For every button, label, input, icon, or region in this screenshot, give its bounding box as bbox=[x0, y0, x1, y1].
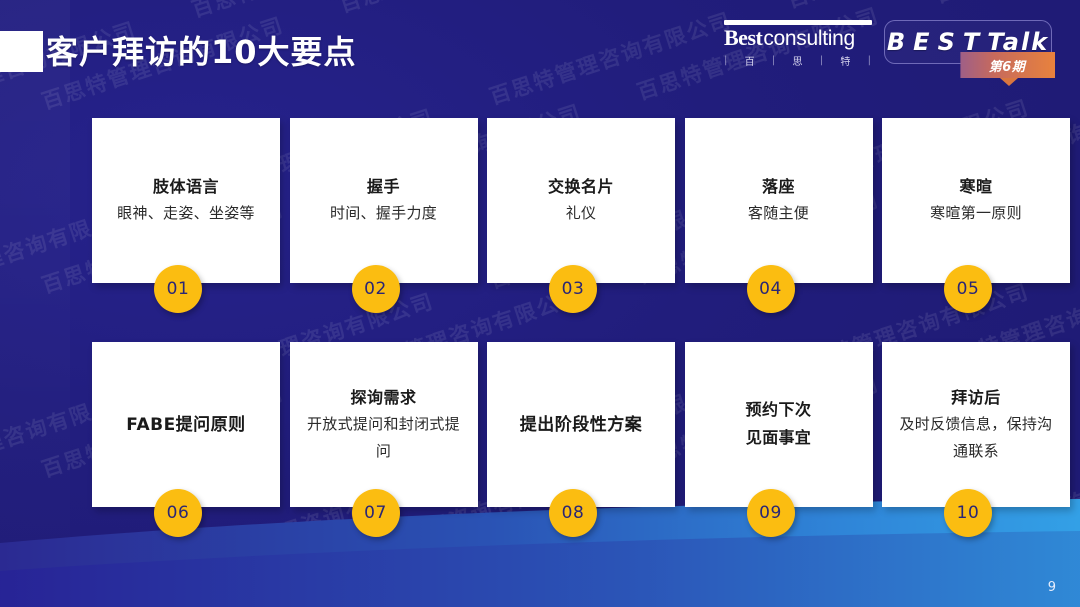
point-card[interactable]: FABE提问原则 bbox=[92, 342, 280, 507]
point-card-title: 交换名片 bbox=[548, 174, 614, 200]
point-card-subtitle: 开放式提问和封闭式提问 bbox=[302, 411, 466, 465]
point-number-badge[interactable]: 09 bbox=[747, 489, 795, 537]
point-card-subtitle: 眼神、走姿、坐姿等 bbox=[117, 200, 255, 227]
point-card-subtitle: 见面事宜 bbox=[746, 423, 811, 453]
point-card-title: 寒暄 bbox=[959, 174, 992, 200]
point-number-badge[interactable]: 07 bbox=[352, 489, 400, 537]
point-card-title: 探询需求 bbox=[350, 385, 416, 411]
point-card[interactable]: 握手时间、握手力度 bbox=[290, 118, 478, 283]
point-card[interactable]: 拜访后及时反馈信息，保持沟通联系 bbox=[882, 342, 1070, 507]
point-number-badge[interactable]: 04 bbox=[747, 265, 795, 313]
point-card[interactable]: 落座客随主便 bbox=[685, 118, 873, 283]
point-number-badge[interactable]: 06 bbox=[154, 489, 202, 537]
point-card[interactable]: 预约下次见面事宜 bbox=[685, 342, 873, 507]
card-grid: 肢体语言眼神、走姿、坐姿等01握手时间、握手力度02交换名片礼仪03落座客随主便… bbox=[0, 0, 1080, 607]
point-card-title: FABE提问原则 bbox=[126, 412, 245, 438]
slide-canvas: 百思特管理咨询有限公司百思特管理咨询有限公司百思特管理咨询有限公司百思特管理咨询… bbox=[0, 0, 1080, 607]
page-number: 9 bbox=[1048, 580, 1056, 595]
point-card-subtitle: 客随主便 bbox=[748, 200, 809, 227]
point-card-title: 拜访后 bbox=[951, 385, 1001, 411]
point-card-title: 预约下次 bbox=[745, 397, 811, 423]
point-number-badge[interactable]: 10 bbox=[944, 489, 992, 537]
point-number-badge[interactable]: 08 bbox=[549, 489, 597, 537]
point-card-subtitle: 寒暄第一原则 bbox=[930, 200, 1022, 227]
point-card-title: 落座 bbox=[762, 174, 795, 200]
point-card[interactable]: 提出阶段性方案 bbox=[487, 342, 675, 507]
point-card-title: 肢体语言 bbox=[153, 174, 219, 200]
point-card-title: 握手 bbox=[367, 174, 400, 200]
point-card[interactable]: 探询需求开放式提问和封闭式提问 bbox=[290, 342, 478, 507]
point-card-subtitle: 时间、握手力度 bbox=[330, 200, 437, 227]
point-card[interactable]: 交换名片礼仪 bbox=[487, 118, 675, 283]
point-card-subtitle: 礼仪 bbox=[566, 200, 597, 227]
point-number-badge[interactable]: 03 bbox=[549, 265, 597, 313]
point-card-title: 提出阶段性方案 bbox=[520, 412, 643, 438]
point-card[interactable]: 肢体语言眼神、走姿、坐姿等 bbox=[92, 118, 280, 283]
point-number-badge[interactable]: 02 bbox=[352, 265, 400, 313]
point-card[interactable]: 寒暄寒暄第一原则 bbox=[882, 118, 1070, 283]
point-number-badge[interactable]: 05 bbox=[944, 265, 992, 313]
point-number-badge[interactable]: 01 bbox=[154, 265, 202, 313]
point-card-subtitle: 及时反馈信息，保持沟通联系 bbox=[894, 411, 1058, 465]
